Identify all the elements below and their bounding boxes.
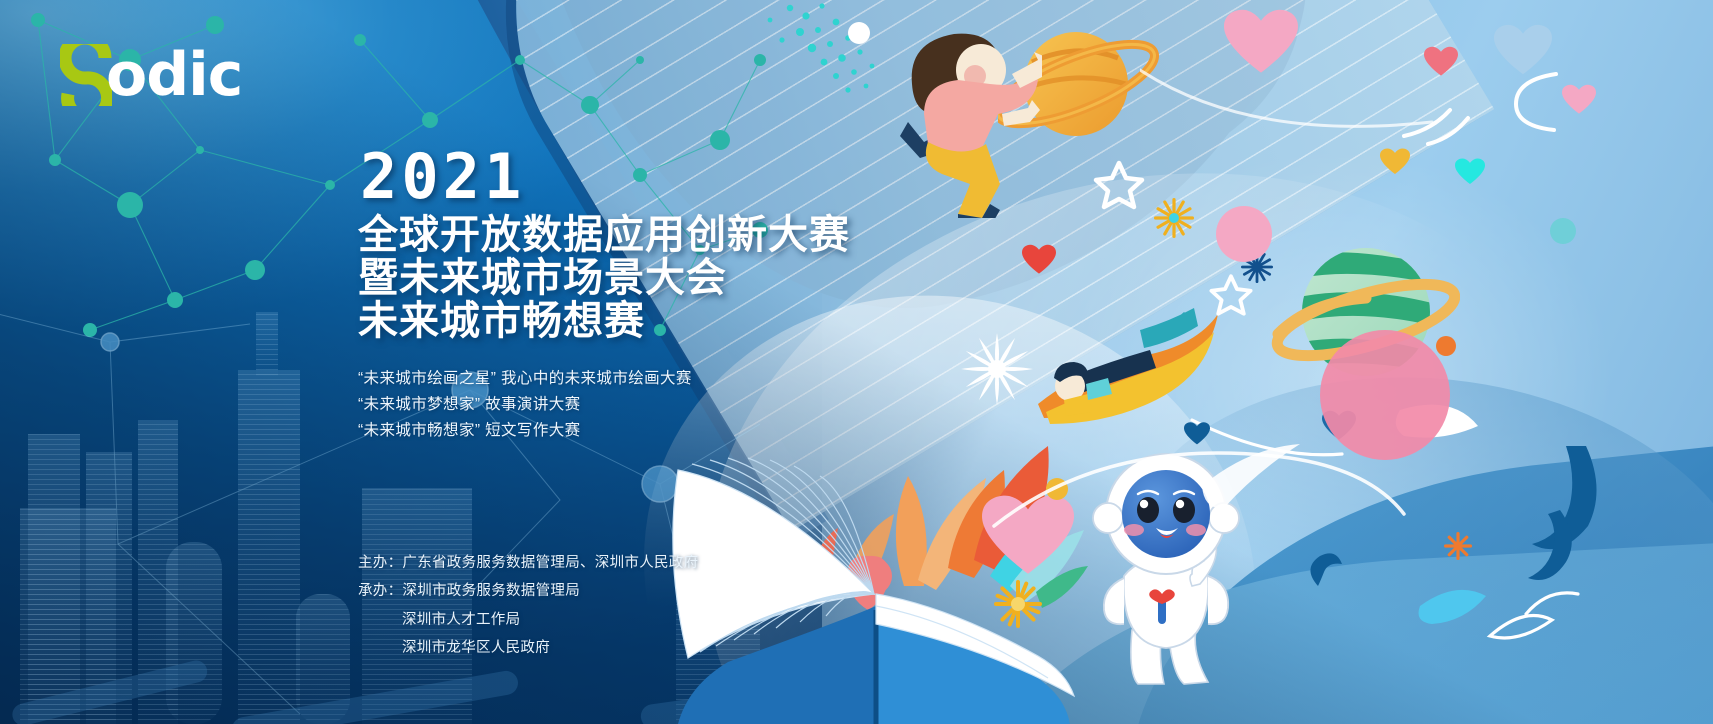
subtitle-storytelling: “未来城市梦想家” 故事演讲大赛	[358, 392, 692, 418]
heart-red-mid	[1022, 244, 1056, 276]
pink-circle-small	[1216, 206, 1272, 262]
girl-reaching-saturn	[862, 18, 1042, 218]
sparkle-star-large	[958, 330, 1036, 408]
organizer-line-3: 深圳市龙华区人民政府	[358, 634, 698, 662]
organizer-block: 主办：广东省政务服务数据管理局、深圳市人民政府 承办：深圳市政务服务数据管理局 …	[358, 549, 698, 662]
sodic-logo[interactable]: odic	[60, 42, 242, 108]
subtitle-writing: “未来城市畅想家” 短文写作大赛	[358, 418, 692, 444]
outline-star-top	[1092, 158, 1146, 212]
poster-canvas: odic 2021 全球开放数据应用创新大赛 暨未来城市场景大会 未来城市畅想赛…	[0, 0, 1713, 724]
white-trail-curve-2	[1140, 62, 1440, 182]
sodic-logo-text: odic	[106, 45, 242, 105]
orange-dot-left-mid	[1436, 336, 1456, 356]
organizer-line-1: 承办：深圳市政务服务数据管理局	[358, 577, 698, 605]
title-line-2: 暨未来城市场景大会	[358, 257, 850, 300]
event-year: 2021	[360, 146, 525, 208]
title-line-1: 全球开放数据应用创新大赛	[358, 214, 850, 257]
heart-cyan	[1455, 158, 1485, 186]
teal-dot-lower-right	[1550, 218, 1576, 244]
organizer-line-2: 深圳市人才工作局	[358, 606, 698, 634]
host-line: 主办：广东省政务服务数据管理局、深圳市人民政府	[358, 549, 698, 577]
sodic-logo-s-icon	[60, 44, 112, 106]
sparkle-star-yellow	[1152, 196, 1196, 240]
event-subtitles: “未来城市绘画之星” 我心中的未来城市绘画大赛 “未来城市梦想家” 故事演讲大赛…	[358, 366, 692, 444]
subtitle-painting: “未来城市绘画之星” 我心中的未来城市绘画大赛	[358, 366, 692, 392]
title-line-3: 未来城市畅想赛	[358, 300, 850, 343]
white-trail-curve	[990, 418, 1410, 558]
event-title: 全球开放数据应用创新大赛 暨未来城市场景大会 未来城市畅想赛	[358, 214, 850, 342]
